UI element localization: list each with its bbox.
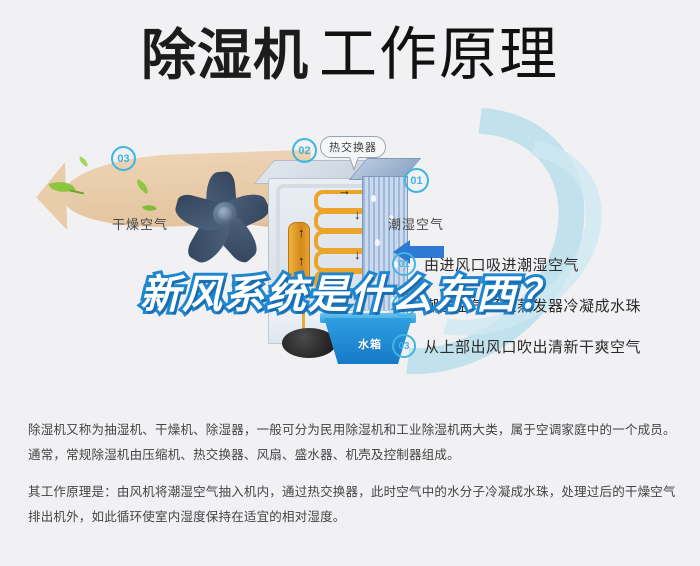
flow-arrow-down-icon: ↓ [354,248,361,261]
motor-icon [282,328,336,358]
legend-item: 03 从上部出风口吹出清新干爽空气 [392,334,692,358]
badge-03: 03 [111,146,136,171]
humid-air-label: 潮湿空气 [388,214,444,233]
paragraph-1: 除湿机又称为抽湿机、干燥机、除湿器，一般可分为民用除湿机和工业除湿机两大类，属于… [28,418,676,468]
water-droplet-icon [371,195,376,202]
legend-badge-03: 03 [392,334,416,358]
water-droplet-icon [375,239,380,246]
badge-02: 02 [292,138,317,163]
body-copy: 除湿机又称为抽湿机、干燥机、除湿器，一般可分为民用除湿机和工业除湿机两大类，属于… [28,418,676,540]
page-title-part1: 除湿机 [141,23,309,87]
legend-badge-01: 01 [392,252,416,276]
legend-text-01: 由进风口吸进潮湿空气 [424,254,579,275]
badge-01: 01 [404,168,429,193]
flow-arrow-up-icon: ↑ [298,226,305,239]
infographic-page: 除湿机工作原理 [0,0,700,566]
legend-item: 02 潮湿空气经过蒸发器冷凝成水珠 [392,293,692,317]
legend-item: 01 由进风口吸进潮湿空气 [392,252,692,276]
flow-arrow-down-icon: ↓ [354,208,361,221]
water-tank-label: 水箱 [358,336,382,352]
paragraph-2: 其工作原理是：由风机将潮湿空气抽入机内，通过热交换器，此时空气中的水分子冷凝成水… [28,480,676,530]
steps-legend: 01 由进风口吸进潮湿空气 02 潮湿空气经过蒸发器冷凝成水珠 03 从上部出风… [392,252,692,375]
fan-hub-center [218,207,232,221]
legend-text-03: 从上部出风口吹出清新干爽空气 [424,336,641,357]
flow-arrow-right-icon: → [338,184,351,197]
leaf-icon [77,156,90,167]
heat-exchanger-callout: 热交换器 [320,136,386,158]
page-title: 除湿机工作原理 [0,26,700,84]
dry-air-label: 干燥空气 [112,214,168,233]
page-title-part2: 工作原理 [319,22,559,87]
water-droplet-icon [373,281,378,288]
flow-arrow-up-icon: ↑ [298,254,305,267]
legend-badge-02: 02 [392,293,416,317]
legend-text-02: 潮湿空气经过蒸发器冷凝成水珠 [424,295,641,316]
